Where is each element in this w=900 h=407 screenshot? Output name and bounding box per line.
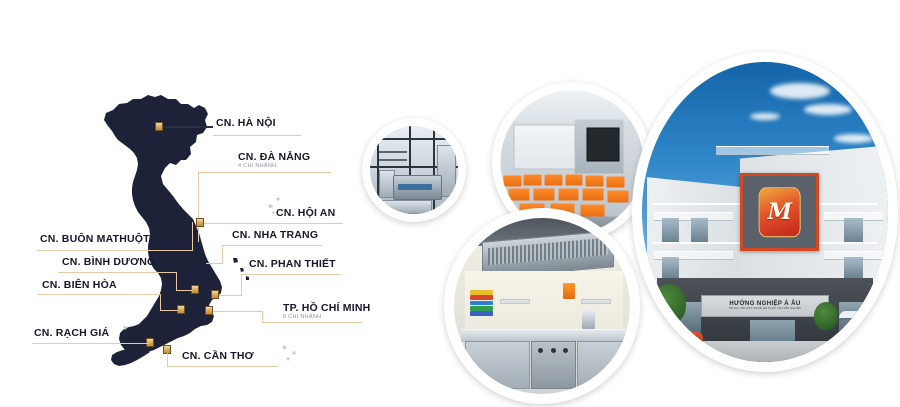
classroom-chair xyxy=(608,190,629,202)
connector-phan-thiet-h xyxy=(219,295,242,296)
branch-label-nha-trang[interactable]: CN. NHA TRANG xyxy=(232,230,318,241)
connector-ct-h xyxy=(167,366,180,367)
connector-nha-trang-v xyxy=(222,245,223,263)
branch-sublabel: 8 CHI NHÁNH xyxy=(283,315,370,321)
branch-label-can-tho[interactable]: CN. CẦN THƠ xyxy=(182,351,254,362)
kitchen-cutting-board xyxy=(470,311,493,316)
connector-hcm-h xyxy=(213,311,263,312)
underline-phan-thiet xyxy=(241,274,341,275)
equipment-shelf-1 xyxy=(379,151,407,153)
building-window xyxy=(844,257,864,278)
marker-ha-noi[interactable] xyxy=(155,122,163,131)
building-sign-board: M xyxy=(740,173,819,251)
equipment-frame-h1 xyxy=(370,138,458,140)
branch-sublabel: 4 CHI NHÁNH xyxy=(238,164,310,170)
kitchen-cutting-board xyxy=(470,295,493,300)
building-shopfront-window xyxy=(839,302,869,335)
classroom-chair xyxy=(565,175,583,186)
connector-bh-h xyxy=(160,310,178,311)
car-icon xyxy=(667,332,703,346)
kitchen-cabinet-left xyxy=(465,341,530,389)
kitchen-pot xyxy=(582,310,594,329)
connector-bh-v xyxy=(160,294,161,310)
underline-binh-duong xyxy=(58,272,177,273)
classroom-projector-screen xyxy=(513,125,575,170)
connector-bmt-v xyxy=(192,222,193,250)
building-sign-subtitle: TRUNG TÂM DẠY NGHỀ ẨM THỰC CHUYÊN NGHIỆP xyxy=(729,308,802,311)
umbrella-icon xyxy=(839,311,865,318)
underline-bien-hoa xyxy=(38,294,161,295)
photo-circle-equipment[interactable] xyxy=(362,118,466,222)
branch-label-text: CN. ĐÀ NẴNG xyxy=(238,151,310,163)
underline-nha-trang xyxy=(222,245,322,246)
classroom-chair xyxy=(606,176,624,187)
headquarters-building-photo: M HƯỚNG NGHIỆP Á ÂU TRUNG TÂM DẠY NGHỀ Ẩ… xyxy=(642,62,888,362)
connector-ha-noi xyxy=(163,126,213,128)
connector-hcm-v xyxy=(262,311,263,322)
branch-label-text: TP. HỒ CHÍ MINH xyxy=(283,302,370,314)
marker-binh-duong[interactable] xyxy=(191,285,199,294)
building-window xyxy=(662,257,679,278)
kitchen-cabinet-right xyxy=(577,341,628,389)
underline-hcm xyxy=(262,322,362,323)
connector-phan-thiet-v xyxy=(241,274,242,296)
building-window xyxy=(844,218,864,242)
classroom-ceiling xyxy=(501,91,644,122)
cloud-icon xyxy=(804,104,852,115)
branch-label-hoi-an[interactable]: CN. HỘI AN xyxy=(276,208,335,219)
equipment-shelf-2 xyxy=(379,159,407,161)
kitchen-burner-knob xyxy=(538,348,543,353)
kitchen-stove xyxy=(531,341,575,389)
connector-bmt-h xyxy=(178,250,193,251)
branch-label-phan-thiet[interactable]: CN. PHAN THIẾT xyxy=(249,259,336,270)
connector-ct-v xyxy=(167,353,168,366)
classroom-chair xyxy=(580,204,605,217)
classroom-chair xyxy=(545,174,563,185)
kitchen-burner-knob xyxy=(551,348,556,353)
building-window xyxy=(691,218,708,242)
kitchen-cutting-board xyxy=(470,306,493,311)
branch-label-da-nang[interactable]: CN. ĐÀ NẴNG 4 CHI NHÁNH xyxy=(238,152,310,170)
kitchen-wall-sign xyxy=(563,283,575,299)
kitchen-counter xyxy=(461,329,626,342)
cloud-icon xyxy=(750,113,780,120)
cloud-icon xyxy=(770,83,830,99)
building-window xyxy=(662,218,679,242)
branch-label-text: CN. BIÊN HÒA xyxy=(42,279,117,291)
classroom-chair xyxy=(558,188,579,200)
photo-circle-kitchen[interactable] xyxy=(444,208,640,404)
marker-hoi-an[interactable] xyxy=(196,218,204,227)
hna-logo-icon: M xyxy=(758,187,801,237)
underline-rach-gia xyxy=(32,343,149,344)
connector-da-nang-v xyxy=(198,172,199,242)
underline-can-tho xyxy=(180,366,278,367)
branch-label-text: CN. HỘI AN xyxy=(276,207,335,219)
equipment-cart xyxy=(382,200,432,214)
branch-label-buon-ma-thuot[interactable]: CN. BUÔN MATHUỘT xyxy=(40,234,150,245)
kitchen-cutting-board xyxy=(470,301,493,306)
underline-hoi-an xyxy=(271,223,343,224)
kitchen-cutting-boards xyxy=(470,290,493,316)
branch-label-text: CN. BÌNH DƯƠNG xyxy=(62,256,155,268)
underline-ha-noi xyxy=(213,135,301,136)
kitchen-equipment-photo xyxy=(370,126,458,214)
branch-label-text: CN. PHAN THIẾT xyxy=(249,258,336,270)
training-kitchen-photo xyxy=(454,218,630,394)
building-roof-rail xyxy=(716,146,829,155)
branch-label-ho-chi-minh[interactable]: TP. HỒ CHÍ MINH 8 CHI NHÁNH xyxy=(283,303,370,321)
building-name-sign: HƯỚNG NGHIỆP Á ÂU TRUNG TÂM DẠY NGHỀ ẨM … xyxy=(701,295,829,318)
classroom-chair xyxy=(583,189,604,201)
equipment-oven xyxy=(393,175,443,200)
classroom-chair xyxy=(586,175,604,186)
underline-da-nang xyxy=(231,172,331,173)
branch-label-text: CN. CẦN THƠ xyxy=(182,350,254,362)
branch-label-rach-gia[interactable]: CN. RẠCH GIÁ xyxy=(34,328,109,339)
classroom-tv-monitor xyxy=(586,128,619,161)
connector-hoi-an xyxy=(204,223,271,224)
branch-label-text: CN. BUÔN MATHUỘT xyxy=(40,233,150,245)
branch-label-ha-noi[interactable]: CN. HÀ NỘI xyxy=(216,118,276,129)
kitchen-wall-shelf-2 xyxy=(581,299,611,304)
marker-phan-thiet[interactable] xyxy=(211,290,219,299)
kitchen-cutting-board xyxy=(470,290,493,295)
branch-label-binh-duong[interactable]: CN. BÌNH DƯƠNG xyxy=(62,257,155,268)
tree-icon xyxy=(814,302,838,330)
marker-bien-hoa[interactable] xyxy=(177,305,185,314)
branch-label-text: CN. RẠCH GIÁ xyxy=(34,327,109,339)
connector-nha-trang-h xyxy=(206,263,223,264)
kitchen-wall-shelf-1 xyxy=(500,299,530,304)
photo-circle-building[interactable]: M HƯỚNG NGHIỆP Á ÂU TRUNG TÂM DẠY NGHỀ Ẩ… xyxy=(632,52,898,372)
vietnam-map-panel: CN. HÀ NỘI CN. ĐÀ NẴNG 4 CHI NHÁNH CN. H… xyxy=(0,0,380,407)
cloud-icon xyxy=(834,134,874,143)
connector-bd-v xyxy=(176,272,177,290)
branch-label-text: CN. HÀ NỘI xyxy=(216,117,276,129)
vietnam-map-shape xyxy=(0,0,380,407)
classroom-chair xyxy=(509,189,530,201)
classroom-chair xyxy=(524,174,542,185)
kitchen-burner-knob xyxy=(563,348,568,353)
underline-bmt xyxy=(37,250,179,251)
connector-da-nang-h xyxy=(198,172,231,173)
branch-label-bien-hoa[interactable]: CN. BIÊN HÒA xyxy=(42,280,117,291)
marker-ho-chi-minh[interactable] xyxy=(205,306,213,315)
tree-icon xyxy=(652,284,686,324)
connector-bd-h xyxy=(176,290,192,291)
logo-letter: M xyxy=(768,201,792,223)
branch-label-text: CN. NHA TRANG xyxy=(232,229,318,241)
infographic-stage: CN. HÀ NỘI CN. ĐÀ NẴNG 4 CHI NHÁNH CN. H… xyxy=(0,0,900,407)
classroom-chair xyxy=(503,175,521,186)
classroom-chair xyxy=(534,188,555,200)
